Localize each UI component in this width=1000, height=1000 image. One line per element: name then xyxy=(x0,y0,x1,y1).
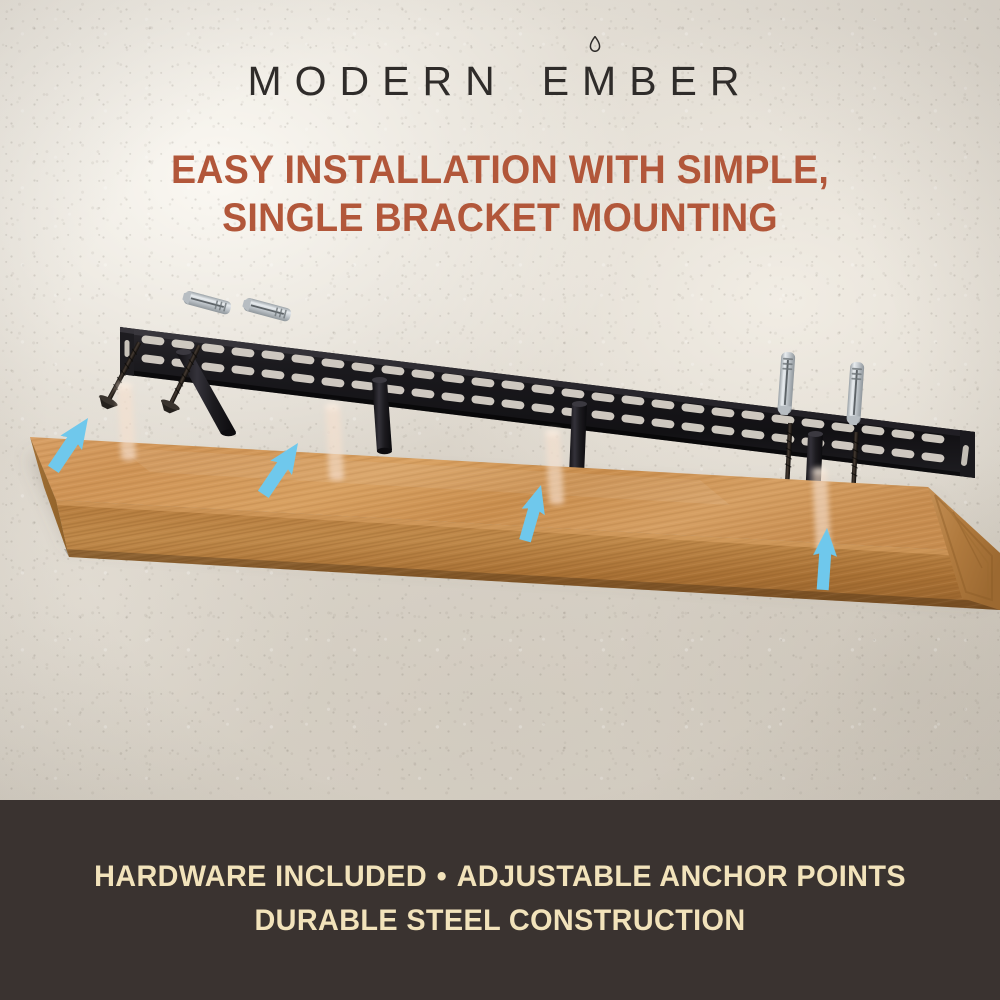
product-infographic: MODERNEMBER EASY INSTALLATION WITH SIMPL… xyxy=(0,0,1000,1000)
wall-anchor xyxy=(181,290,232,316)
wall-anchor xyxy=(777,352,795,416)
footer-feature-hardware: HARDWARE INCLUDED xyxy=(94,860,427,893)
wall-anchor xyxy=(846,362,864,426)
footer-feature-anchors: ADJUSTABLE ANCHOR POINTS xyxy=(457,860,906,893)
wall-anchor xyxy=(241,297,292,323)
footer-text-block: HARDWARE INCLUDED•ADJUSTABLE ANCHOR POIN… xyxy=(20,800,980,943)
footer-feature-bar: HARDWARE INCLUDED•ADJUSTABLE ANCHOR POIN… xyxy=(0,800,1000,1000)
footer-line-1: HARDWARE INCLUDED•ADJUSTABLE ANCHOR POIN… xyxy=(20,855,980,899)
footer-line-2: DURABLE STEEL CONSTRUCTION xyxy=(20,899,980,943)
footer-bullet-separator: • xyxy=(427,855,457,899)
product-illustration xyxy=(0,0,1000,805)
